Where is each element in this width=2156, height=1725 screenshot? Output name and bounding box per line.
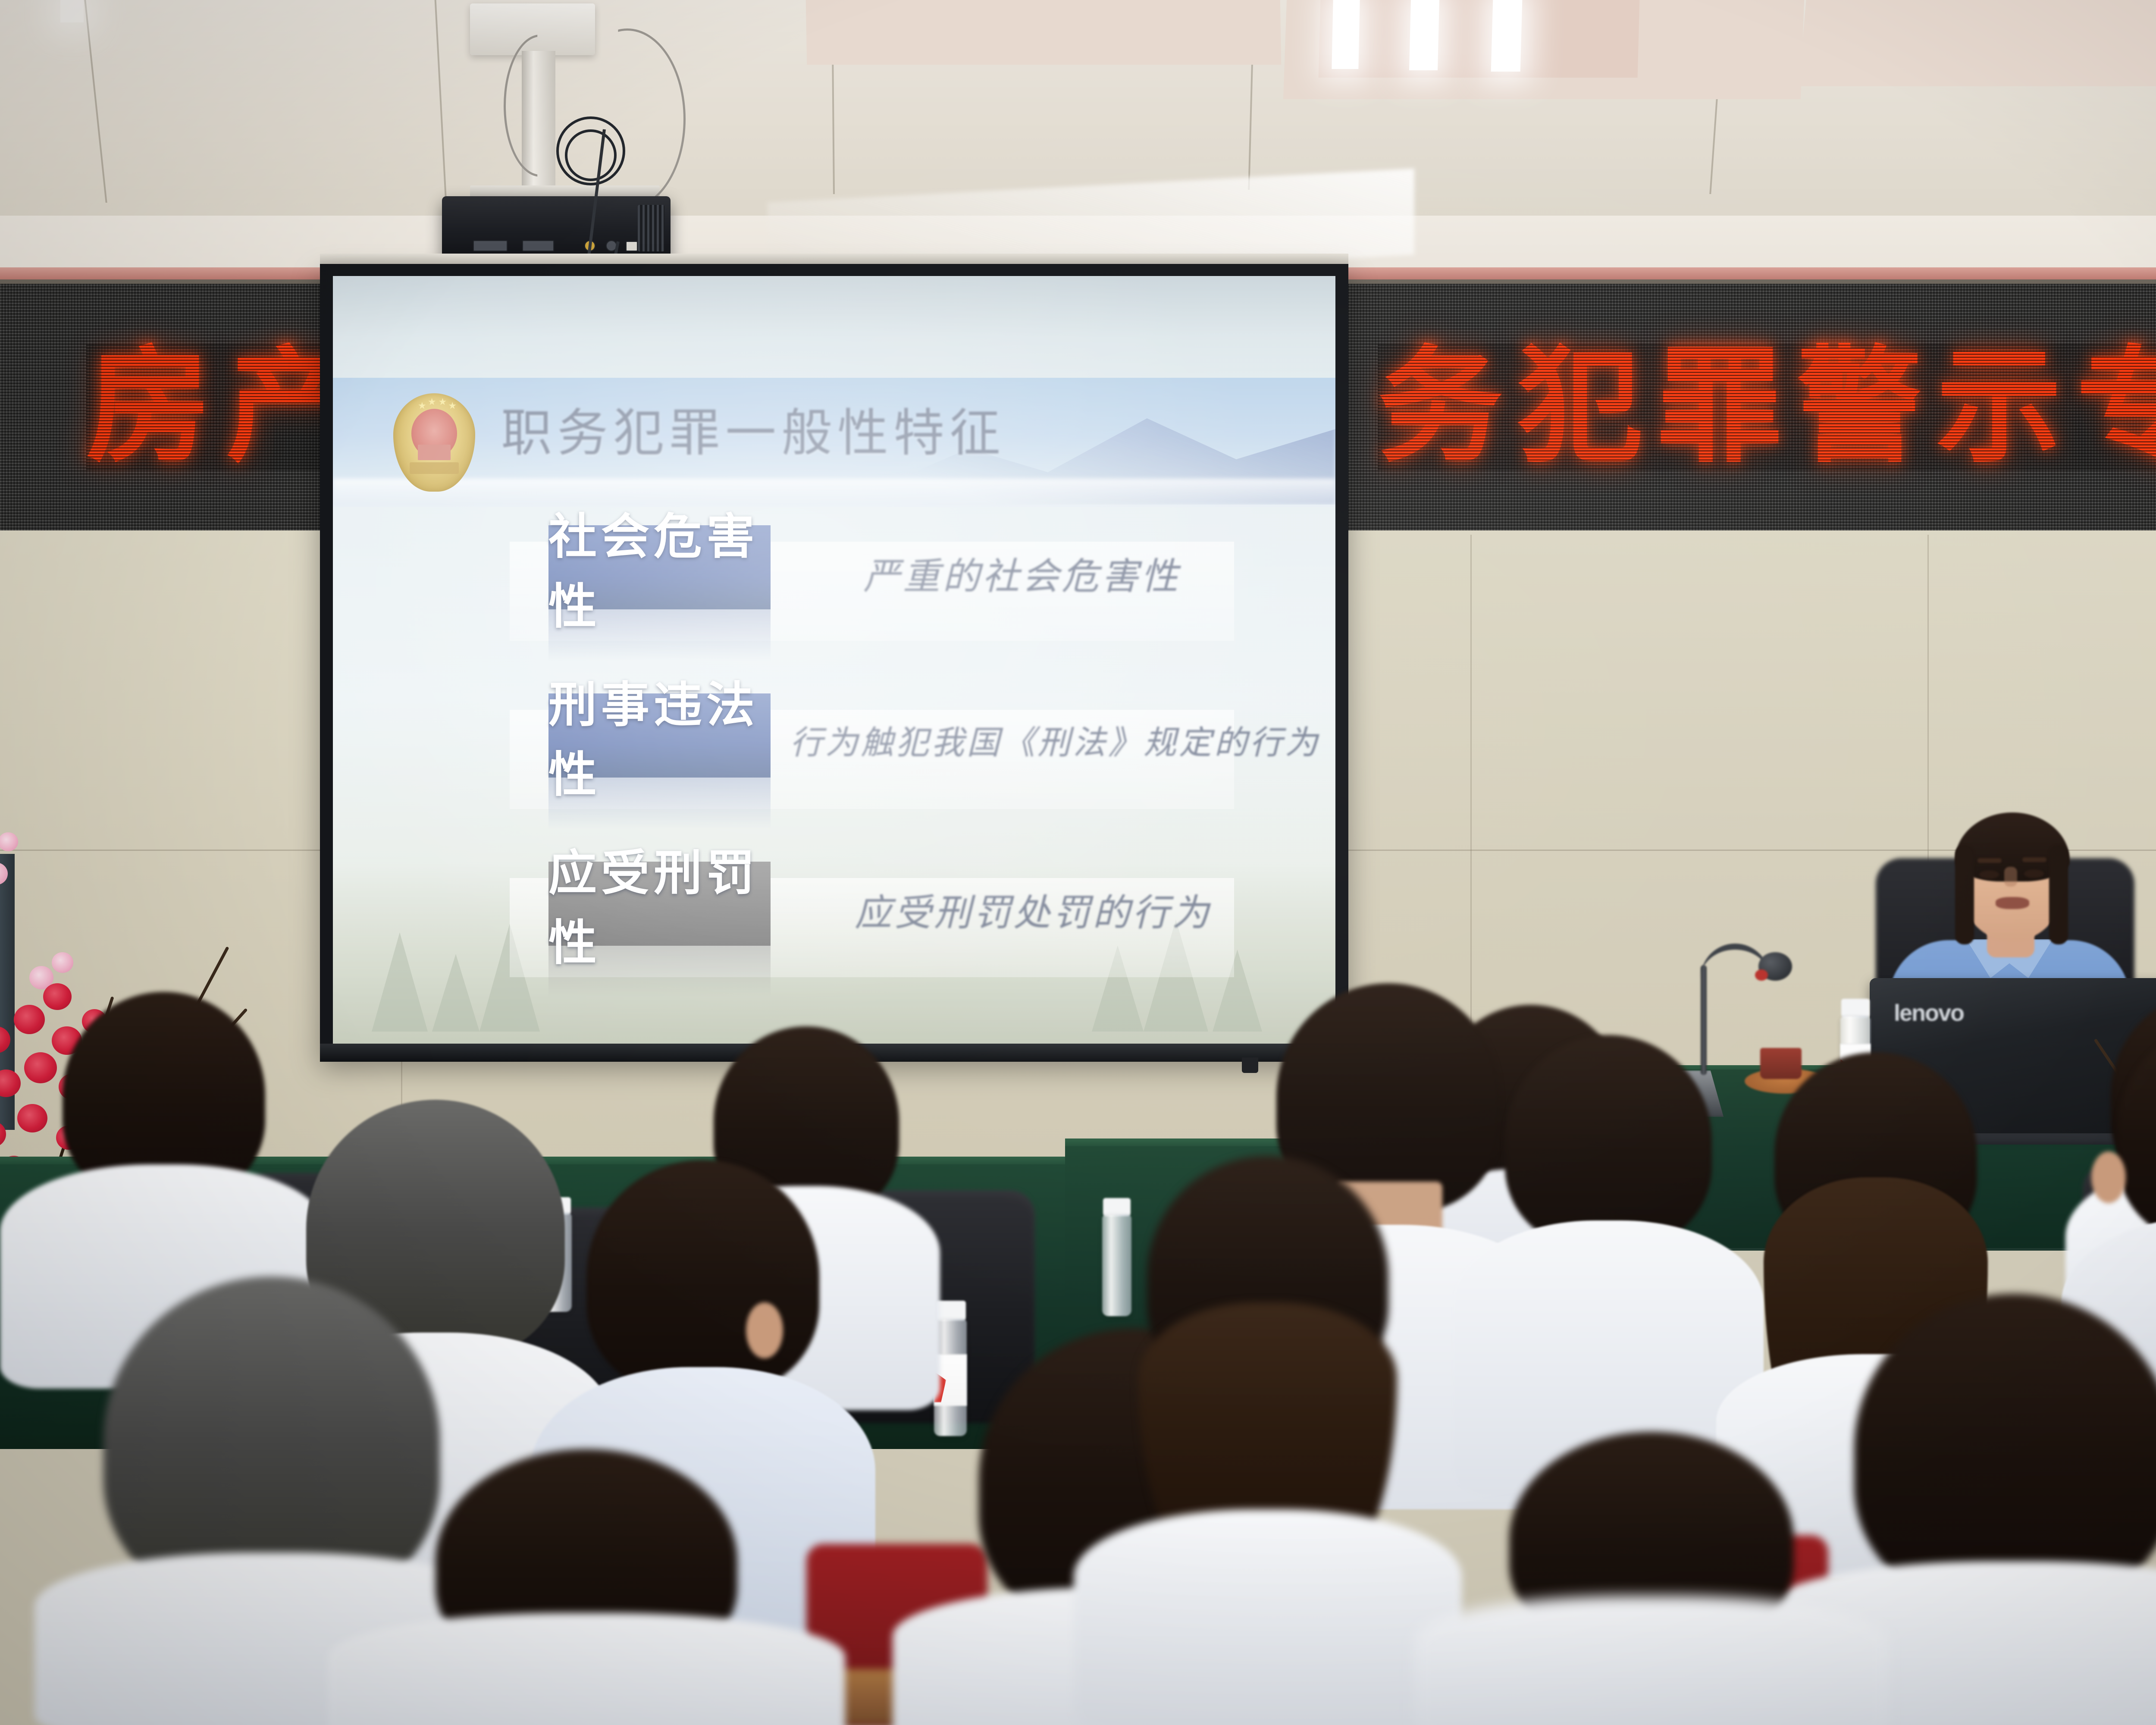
slide-header-shine [333, 479, 1335, 503]
ear [2091, 1151, 2126, 1203]
presenter-eye [1979, 870, 1999, 879]
audience-member-front [328, 1449, 845, 1725]
slide-row-description: 行为触犯我国《刑法》规定的行为 [790, 723, 1320, 762]
light-tube [1491, 0, 1523, 72]
laptop-brand-label: lenovo [1894, 1000, 1964, 1026]
slide-row-description: 应受刑罚处罚的行为 [855, 891, 1212, 935]
slide-row: 社会危害性 严重的社会危害性 [333, 517, 1335, 686]
ceiling-light-fixture [1319, 0, 1640, 78]
head [2117, 1022, 2156, 1242]
head [586, 1160, 819, 1393]
shirt [1414, 1596, 1889, 1725]
procuratorate-emblem-icon: ★ ★ ★ ★ [393, 393, 475, 492]
shirt [1074, 1509, 1462, 1725]
audience-member-front [1414, 1432, 1889, 1725]
presentation-slide: ★ ★ ★ ★ 职务犯罪一般性特征 [333, 276, 1335, 1044]
presenter-hair [1955, 845, 1974, 944]
slide-row: 应受刑罚性 应受刑罚处罚的行为 [333, 854, 1335, 1022]
projection-screen: ★ ★ ★ ★ 职务犯罪一般性特征 [320, 264, 1348, 1057]
projector-usb-port [626, 241, 638, 251]
slide-content-rows: 社会危害性 严重的社会危害性 刑事违法性 行为触犯我国《刑法》规定的行为 应受刑… [333, 517, 1335, 1022]
presenter-mouth [1996, 897, 2029, 909]
light-tube [1332, 0, 1360, 69]
head [1505, 1035, 1712, 1246]
slide-row-chip: 应受刑罚性 [548, 862, 771, 946]
light-tube [60, 0, 84, 22]
audience-member-front [1074, 1156, 1462, 1725]
head [1854, 1294, 2156, 1604]
slide-row-chip: 社会危害性 [548, 525, 771, 609]
shirt [328, 1613, 845, 1725]
microphone-windscreen-ring [1755, 969, 1768, 981]
projector [442, 196, 671, 261]
presenter-nose [2004, 867, 2017, 887]
light-tube [1409, 0, 1439, 70]
slide-row-chip: 刑事违法性 [548, 693, 771, 778]
projector-vent [638, 205, 664, 251]
presenter-eye [2024, 869, 2044, 878]
slide-row-description: 严重的社会危害性 [863, 555, 1181, 599]
projector-vga-port [473, 240, 508, 251]
led-banner-text-right: 务犯罪警示专题讲座 [1378, 345, 2156, 470]
presenter-hair [2049, 845, 2068, 944]
projector-vga-port [522, 240, 554, 251]
presenter-eyebrow [1977, 858, 2002, 863]
slide-row: 刑事违法性 行为触犯我国《刑法》规定的行为 [333, 686, 1335, 854]
conference-hall-photo: 房产 务犯罪警示专题讲座 ★ ★ ★ ★ 职 [0, 0, 2156, 1725]
projector-cable-dark [565, 129, 617, 181]
presenter-eyebrow [2022, 857, 2046, 862]
slide-title: 职务犯罪一般性特征 [501, 405, 1006, 461]
ear [746, 1302, 783, 1358]
